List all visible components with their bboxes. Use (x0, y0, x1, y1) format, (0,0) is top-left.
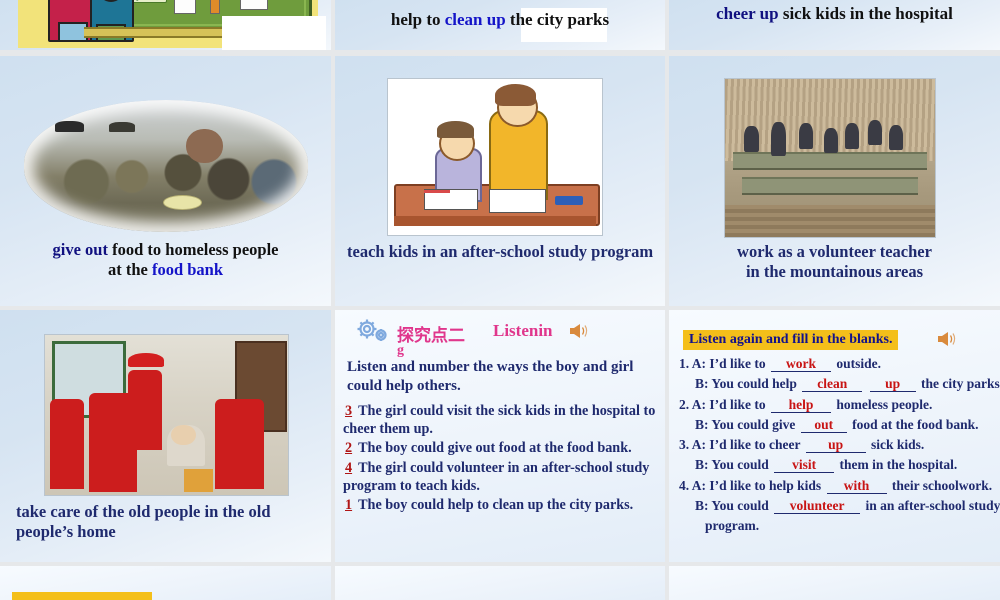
question-text-post: the city parks. (918, 376, 1000, 391)
panel-volunteer-teacher: work as a volunteer teacher in the mount… (669, 56, 1000, 306)
question-number: 2. (679, 397, 689, 412)
food-distribution-photo (24, 100, 308, 232)
answer-number[interactable]: 3 (343, 403, 354, 419)
panel-park-cleanup-cartoon: the City Parks (0, 0, 331, 50)
question-4-a: 4. A: I’d like to help kids with their s… (679, 476, 999, 496)
question-3-a: 3. A: I’d like to cheer up sick kids. (679, 435, 999, 455)
question-1-b: B: You could help clean up the city park… (679, 374, 999, 394)
caption-food-bank: give out food to homeless people at the … (0, 240, 331, 280)
soldier-cap-mid (109, 122, 135, 131)
list-item-text: The boy could help to clean up the city … (358, 497, 633, 513)
caption-line-2: people’s home (16, 522, 316, 542)
caption-accent-cheer-up: cheer up (716, 4, 779, 23)
question-text-post: them in the hospital. (836, 457, 957, 472)
desk-row-back (742, 177, 918, 195)
question-text-pre: A: I’d like to cheer (692, 437, 804, 452)
rural-student (771, 122, 786, 157)
after-school-tutoring-image (387, 78, 603, 236)
topic-label-en: Listenin (493, 321, 553, 341)
question-text-pre: A: I’d like to (692, 356, 769, 371)
listening-instruction: Listen and number the ways the boy and g… (347, 358, 659, 396)
list-item[interactable]: 4The girl could volunteer in an after-sc… (343, 459, 663, 495)
listening-answer-list: 3The girl could visit the sick kids in t… (343, 402, 663, 515)
notice-paper-1 (174, 0, 196, 14)
food-bowl (163, 195, 202, 210)
caption-text-pre: help to (391, 10, 445, 29)
answer-number[interactable]: 4 (343, 460, 354, 476)
panel-next-row-right (669, 566, 1000, 600)
caption-text-1: food to homeless people (108, 240, 279, 259)
caption-line-1: take care of the old people in the old (16, 502, 316, 522)
question-number: 3. (679, 437, 689, 452)
gift-bag (184, 469, 213, 491)
rural-student (799, 123, 814, 148)
topic-label-en-wrap: g (397, 343, 404, 359)
panel-after-school-program: teach kids in an after-school study prog… (335, 56, 665, 306)
desk-row-front (733, 152, 926, 170)
caption-line-2: at the food bank (0, 260, 331, 280)
open-book-right (489, 189, 547, 213)
caption-line-1: give out food to homeless people (0, 240, 331, 260)
answer-blank[interactable]: volunteer (774, 499, 860, 514)
question-text-pre: B: You could (695, 457, 772, 472)
rural-student (824, 128, 839, 153)
pencil (424, 190, 450, 193)
question-text-pre: A: I’d like to (692, 397, 769, 412)
caption-old-peoples-home: take care of the old people in the old p… (16, 502, 316, 542)
answer-blank[interactable]: clean (802, 377, 862, 392)
answer-number[interactable]: 2 (343, 440, 354, 456)
volunteer-red-vest (50, 399, 84, 489)
elderly-care-photo (44, 334, 289, 496)
question-text-wrap: program. (705, 518, 759, 533)
caption-accent-food-bank: food bank (152, 260, 223, 279)
caption-line-2: in the mountainous areas (669, 262, 1000, 282)
answer-blank[interactable]: with (827, 479, 887, 494)
red-cap (128, 353, 164, 367)
list-item-text: The girl could volunteer in an after-sch… (343, 460, 649, 494)
caption-clean-up-parks: help to clean up the city parks (335, 10, 665, 31)
list-item-text: The girl could visit the sick kids in th… (343, 403, 655, 437)
topic-label-cn: 探究点二 (397, 321, 465, 346)
fill-blanks-question-list: 1. A: I’d like to work outside. B: You c… (679, 354, 999, 536)
question-text-post: food at the food bank. (849, 417, 979, 432)
mountain-classroom-photo (724, 78, 936, 238)
question-1-a: 1. A: I’d like to work outside. (679, 354, 999, 374)
answer-blank[interactable]: visit (774, 458, 834, 473)
list-item[interactable]: 3The girl could visit the sick kids in t… (343, 402, 663, 438)
question-2-a: 2. A: I’d like to help homeless people. (679, 395, 999, 415)
question-text-post: their schoolwork. (889, 478, 993, 493)
teacher-hair (495, 84, 536, 106)
question-3-b: B: You could visit them in the hospital. (679, 455, 999, 475)
panel-old-peoples-home: take care of the old people in the old p… (0, 310, 331, 562)
caption-text-2: at the (108, 260, 152, 279)
volunteer-red-vest (128, 370, 162, 450)
panel-listening-exercise: 探究点二 Listenin g Listen and number the wa… (335, 310, 665, 562)
question-text-pre: B: You could help (695, 376, 800, 391)
caption-after-school-program: teach kids in an after-school study prog… (347, 242, 657, 262)
question-4-b-wrap: program. (679, 516, 999, 536)
notice-paper-2 (210, 0, 220, 14)
soldier-cap-left (55, 121, 83, 132)
fill-blanks-title: Listen again and fill in the blanks. (683, 330, 898, 350)
answer-blank[interactable]: up (870, 377, 916, 392)
speaker-icon[interactable] (935, 330, 957, 348)
question-number: 1. (679, 356, 689, 371)
panel-cheer-up-hospital: cheer up sick kids in the hospital (669, 0, 1000, 50)
panel-fill-in-blanks: Listen again and fill in the blanks. 1. … (669, 310, 1000, 562)
answer-blank[interactable]: help (771, 398, 831, 413)
list-item[interactable]: 2The boy could give out food at the food… (343, 439, 663, 457)
answer-number[interactable]: 1 (343, 497, 354, 513)
question-text-post: homeless people. (833, 397, 932, 412)
desk-edge (394, 216, 595, 225)
panel-food-bank: give out food to homeless people at the … (0, 56, 331, 306)
rural-student (845, 123, 860, 148)
rural-student (744, 126, 759, 151)
question-text-post: sick kids. (868, 437, 925, 452)
answer-blank[interactable]: work (771, 357, 831, 372)
caption-text-post: the city parks (506, 10, 609, 29)
question-text-pre: B: You could give (695, 417, 799, 432)
list-item-text: The boy could give out food at the food … (358, 440, 632, 456)
question-4-b: B: You could volunteer in an after-schoo… (679, 496, 999, 516)
question-text-pre: A: I’d like to help kids (692, 478, 825, 493)
answer-blank[interactable]: up (806, 438, 866, 453)
highlight-bar (12, 592, 152, 600)
question-number: 4. (679, 478, 689, 493)
question-2-b: B: You could give out food at the food b… (679, 415, 999, 435)
caption-text-post: sick kids in the hospital (779, 4, 953, 23)
white-overlay-box (222, 16, 326, 50)
spacer (864, 376, 867, 391)
volunteer-red-vest (215, 399, 264, 489)
panel-clean-up-parks: help to clean up the city parks (335, 0, 665, 50)
notice-paper-3 (240, 0, 268, 10)
rural-student (889, 125, 904, 150)
blue-pencil-case (555, 196, 583, 205)
elderly-woman-face (171, 425, 195, 446)
woman-face (186, 129, 223, 163)
panel-next-row-left (0, 566, 331, 600)
caption-accent-give-out: give out (53, 240, 108, 259)
list-item[interactable]: 1The boy could help to clean up the city… (343, 496, 663, 514)
wooden-floor (725, 205, 935, 237)
student-hair (437, 121, 473, 138)
question-text-post: outside. (833, 356, 881, 371)
question-text-pre: B: You could (695, 498, 772, 513)
slide-canvas: the City Parks help to clean up the city… (0, 0, 1000, 600)
caption-cheer-up-hospital: cheer up sick kids in the hospital (669, 4, 1000, 25)
caption-line-1: work as a volunteer teacher (669, 242, 1000, 262)
answer-blank[interactable]: out (801, 418, 847, 433)
question-text-post: in an after-school study (862, 498, 1000, 513)
speaker-icon[interactable] (567, 322, 589, 340)
panel-next-row-mid (335, 566, 665, 600)
rural-student (868, 120, 883, 145)
caption-volunteer-teacher: work as a volunteer teacher in the mount… (669, 242, 1000, 282)
gears-icon (353, 318, 393, 349)
caption-accent-clean-up: clean up (445, 10, 506, 29)
